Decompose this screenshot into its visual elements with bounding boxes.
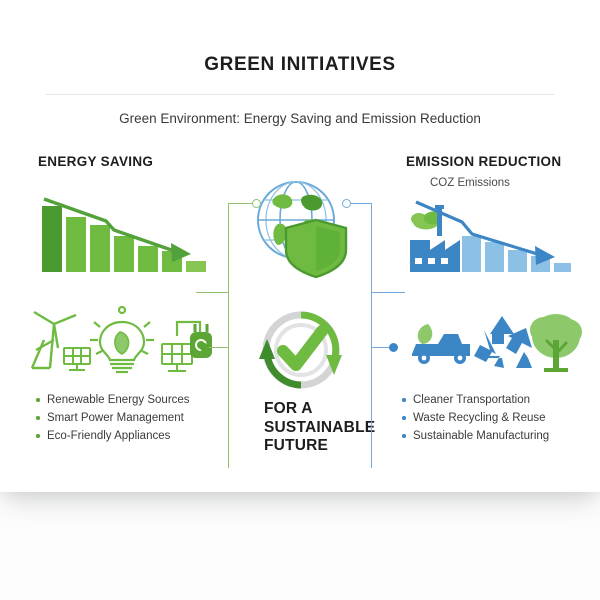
connector-left-top-branch [228,203,254,204]
section-heading-emission-reduction: EMISSION REDUCTION [406,154,561,169]
tagline-line-2: SUSTAINABLE [264,419,384,438]
globe-shield-icon [252,176,352,285]
connector-left-bottom-branch [206,347,229,348]
center-tagline: FOR A SUSTAINABLE FUTURE [264,400,384,456]
connector-left-node-dot [200,343,209,352]
connector-right-vertical [371,203,372,468]
list-item: Eco-Friendly Appliances [34,427,224,445]
connector-right-middle-branch [371,292,405,293]
section-heading-energy-saving: ENERGY SAVING [38,154,153,169]
emission-reduction-icon-row [404,310,584,379]
recycle-icon [474,316,532,368]
connector-left-vertical [228,203,229,468]
connector-right-node-ring [342,199,351,208]
energy-saving-icon-row [22,306,212,379]
connector-right-top-branch [348,203,372,204]
connector-left-middle-branch [196,292,229,293]
solar-panel-small-icon [64,348,90,370]
list-item: Sustainable Manufacturing [400,427,600,445]
tagline-line-3: FUTURE [264,437,384,456]
emission-reduction-chart [404,200,574,283]
list-item: Cleaner Transportation [400,391,600,409]
section-subheading-co2-emissions: COZ Emissions [430,177,510,189]
lightbulb-leaf-icon [90,307,154,372]
connector-right-node-dot [389,343,398,352]
energy-saving-bullet-list: Renewable Energy Sources Smart Power Man… [34,391,224,445]
page-subtitle: Green Environment: Energy Saving and Emi… [0,111,600,126]
energy-saving-chart [40,196,215,281]
list-item: Renewable Energy Sources [34,391,224,409]
emission-reduction-bullet-list: Cleaner Transportation Waste Recycling &… [400,391,600,445]
tagline-line-1: FOR A [264,400,384,419]
circular-check-icon [245,303,357,404]
tree-icon [530,314,582,372]
eco-car-icon [412,324,470,364]
wind-turbine-icon [32,312,76,368]
list-item: Smart Power Management [34,409,224,427]
infographic-canvas: GREEN INITIATIVES Green Environment: Ene… [0,0,600,600]
header-divider [45,94,555,95]
page-title: GREEN INITIATIVES [0,54,600,76]
list-item: Waste Recycling & Reuse [400,409,600,427]
connector-left-node-ring [252,199,261,208]
